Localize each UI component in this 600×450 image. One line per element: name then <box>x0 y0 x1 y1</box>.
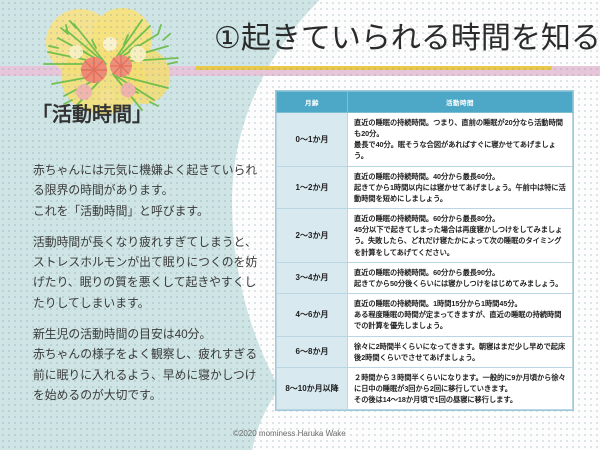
cell-description: 直近の睡眠の持続時間。60分から最長80分。 45分以下で起きてしまった場合は再… <box>348 209 573 263</box>
body-copy: 赤ちゃんには元気に機嫌よく起きていられる限界の時間があります。 これを「活動時間… <box>33 160 261 405</box>
cell-description-text: 徐々に2時間半くらいになってきます。朝寝はまだ少し早めで起床後2時間くらいでさせ… <box>354 341 567 363</box>
body-paragraph-3: 新生児の活動時間の目安は40分。 赤ちゃんの様子をよく観察し、疲れすぎる前に眠り… <box>33 324 261 405</box>
table-row: 1〜2か月 直近の睡眠の持続時間。40分から最長60分。 起きてから1時間以内に… <box>277 166 573 208</box>
cell-description-text: 直近の睡眠の持続時間。60分から最長90分。 起きてから50分後くらいには寝かし… <box>354 267 567 289</box>
cell-description: 直近の睡眠の持続時間。40分から最長60分。 起きてから1時間以内には寝かせてあ… <box>348 166 573 208</box>
decorative-band-gold <box>196 66 552 70</box>
cell-age: 4〜6か月 <box>277 294 348 336</box>
table-body: 0〜1か月 直近の睡眠の持続時間。つまり、直前の睡眠が20分なら活動時間も20分… <box>277 113 573 410</box>
cell-description-text: ２時間から３時間半くらいになります。一般的に9か月頃から徐々に日中の睡眠が3回か… <box>354 372 567 405</box>
table-row: 0〜1か月 直近の睡眠の持続時間。つまり、直前の睡眠が20分なら活動時間も20分… <box>277 113 573 167</box>
cell-description: ２時間から３時間半くらいになります。一般的に9か月頃から徐々に日中の睡眠が3回か… <box>348 367 573 409</box>
cell-description-text: 直近の睡眠の持続時間。1時間15分から1時間45分。 ある程度睡眠の時間が定まっ… <box>354 298 567 331</box>
column-header-activity-time: 活動時間 <box>348 92 573 113</box>
cell-description: 直近の睡眠の持続時間。1時間15分から1時間45分。 ある程度睡眠の時間が定まっ… <box>348 294 573 336</box>
table-row: 3〜4か月 直近の睡眠の持続時間。60分から最長90分。 起きてから50分後くら… <box>277 262 573 293</box>
cell-age: 8〜10か月以降 <box>277 367 348 409</box>
cell-age: 6〜8か月 <box>277 336 348 367</box>
cell-description: 直近の睡眠の持続時間。つまり、直前の睡眠が20分なら活動時間も20分。 最長で4… <box>348 113 573 167</box>
table-row: 2〜3か月 直近の睡眠の持続時間。60分から最長80分。 45分以下で起きてしま… <box>277 209 573 263</box>
page-title: ①起きていられる時間を知る <box>214 24 600 54</box>
cell-description: 直近の睡眠の持続時間。60分から最長90分。 起きてから50分後くらいには寝かし… <box>348 262 573 293</box>
copyright-footer: ©2020 mominess Haruka Wake <box>233 429 346 438</box>
cell-age: 1〜2か月 <box>277 166 348 208</box>
table-header-row: 月齢 活動時間 <box>277 92 573 113</box>
body-paragraph-2: 活動時間が長くなり疲れすぎてしまうと、ストレスホルモンが出て眠りにつくのを妨げた… <box>33 232 261 313</box>
cell-description: 徐々に2時間半くらいになってきます。朝寝はまだ少し早めで起床後2時間くらいでさせ… <box>348 336 573 367</box>
column-header-age: 月齢 <box>277 92 348 113</box>
cell-age: 2〜3か月 <box>277 209 348 263</box>
table-row: 6〜8か月 徐々に2時間半くらいになってきます。朝寝はまだ少し早めで起床後2時間… <box>277 336 573 367</box>
section-heading: 「活動時間」 <box>32 98 152 127</box>
cell-age: 0〜1か月 <box>277 113 348 167</box>
table-row: 4〜6か月 直近の睡眠の持続時間。1時間15分から1時間45分。 ある程度睡眠の… <box>277 294 573 336</box>
table-row: 8〜10か月以降 ２時間から３時間半くらいになります。一般的に9か月頃から徐々に… <box>277 367 573 409</box>
slide-canvas: ①起きていられる時間を知る 「活動時間」 赤ちゃんには元気に機嫌よく起きていられ… <box>0 0 600 450</box>
cell-description-text: 直近の睡眠の持続時間。つまり、直前の睡眠が20分なら活動時間も20分。 最長で4… <box>354 117 567 162</box>
cell-description-text: 直近の睡眠の持続時間。40分から最長60分。 起きてから1時間以内には寝かせてあ… <box>354 171 567 204</box>
body-paragraph-1: 赤ちゃんには元気に機嫌よく起きていられる限界の時間があります。 これを「活動時間… <box>33 160 261 221</box>
cell-description-text: 直近の睡眠の持続時間。60分から最長80分。 45分以下で起きてしまった場合は再… <box>354 213 567 258</box>
cell-age: 3〜4か月 <box>277 262 348 293</box>
activity-time-table: 月齢 活動時間 0〜1か月 直近の睡眠の持続時間。つまり、直前の睡眠が20分なら… <box>275 90 574 411</box>
